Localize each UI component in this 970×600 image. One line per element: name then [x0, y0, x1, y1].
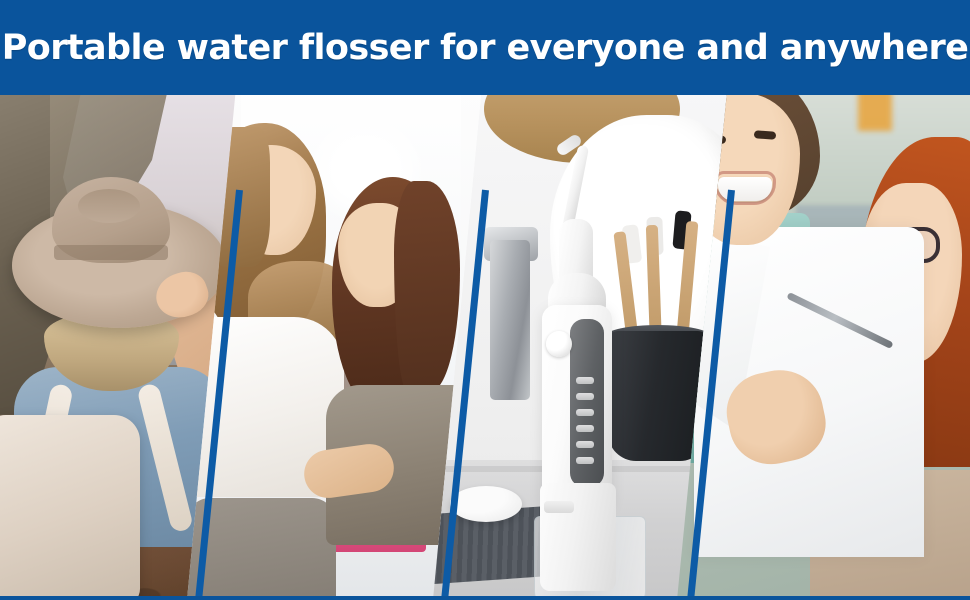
panel-strip: Travel Office Home Dentists Recommend — [0, 95, 970, 600]
banner-bottom-border — [0, 596, 970, 600]
page-title: Portable water flosser for everyone and … — [2, 28, 969, 68]
flosser-power-button[interactable] — [546, 331, 572, 357]
dentist-eye-right — [754, 130, 777, 140]
faucet-body — [490, 240, 530, 400]
water-flosser-product[interactable] — [532, 145, 652, 595]
flosser-led — [576, 393, 594, 400]
promo-banner: Portable water flosser for everyone and … — [0, 0, 970, 600]
flosser-led — [576, 457, 594, 464]
flosser-led — [576, 409, 594, 416]
panel-dentists-image — [676, 95, 970, 600]
banner-header: Portable water flosser for everyone and … — [0, 0, 970, 95]
sun-hat-band — [54, 245, 168, 260]
dentist-scene — [676, 95, 970, 600]
flosser-led — [576, 425, 594, 432]
sun-hat-dent — [78, 189, 140, 223]
flosser-tank-seam — [544, 501, 574, 513]
panel-dentists[interactable] — [676, 95, 970, 600]
soap-bar — [450, 486, 522, 522]
flosser-level-indicators — [576, 377, 598, 473]
flosser-water-tank — [540, 483, 616, 591]
woman-right-hair-side — [394, 181, 460, 391]
clinic-amber-bottle — [858, 95, 892, 131]
dentist-teeth — [718, 177, 772, 201]
backpack — [0, 415, 140, 600]
flosser-led — [576, 441, 594, 448]
flosser-led — [576, 377, 594, 384]
